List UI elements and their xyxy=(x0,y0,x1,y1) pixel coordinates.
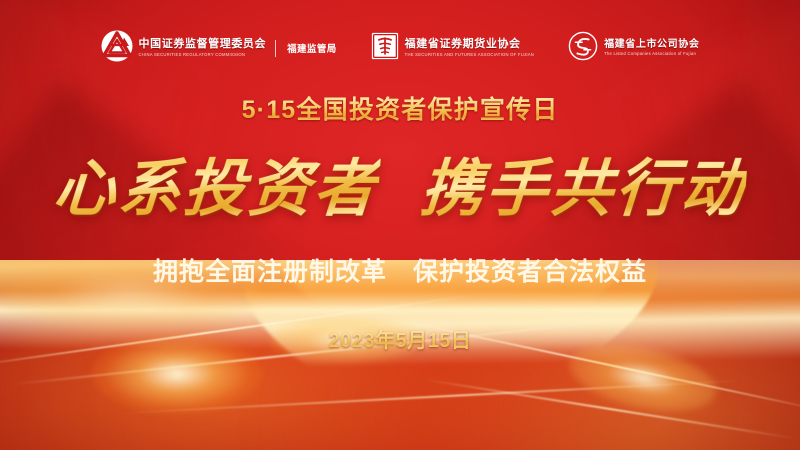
csrc-triangle-emblem-icon xyxy=(101,30,133,67)
logo-fujian-listed-companies-name-en: The Listed Companies Association of Fuji… xyxy=(604,52,699,57)
fujian-listed-companies-circle-icon xyxy=(568,31,598,66)
logo-fujian-securities-futures-name-cn: 福建省证券期货业协会 xyxy=(405,39,534,50)
main-title-part-2: 携手共行动 xyxy=(418,138,749,228)
logo-csrc: 中国证券监督管理委员会 CHINA SECURITIES REGULATORY … xyxy=(101,30,337,66)
campaign-subtitle: 5·15全国投资者保护宣传日 xyxy=(242,90,559,126)
logo-csrc-name-en: CHINA SECURITIES REGULATORY COMMISSION xyxy=(139,52,267,57)
logo-csrc-sub-label: 福建监管局 xyxy=(287,41,337,55)
logo-fujian-securities-futures-name-en: THE SECURITIES AND FUTURES ASSOCIATION O… xyxy=(405,52,534,57)
poster-canvas: 中国证券监督管理委员会 CHINA SECURITIES REGULATORY … xyxy=(0,0,800,450)
fujian-securities-futures-seal-icon xyxy=(371,32,399,65)
logo-fujian-listed-companies-text: 福建省上市公司协会 The Listed Companies Associati… xyxy=(604,40,699,57)
logo-fujian-securities-futures: 福建省证券期货业协会 THE SECURITIES AND FUTURES AS… xyxy=(371,30,534,66)
campaign-date: 2023年5月15日 xyxy=(329,324,472,353)
logo-fujian-listed-companies: 福建省上市公司协会 The Listed Companies Associati… xyxy=(568,30,699,66)
main-title-part-1: 心系投资者 xyxy=(51,138,382,228)
logo-fujian-securities-futures-text: 福建省证券期货业协会 THE SECURITIES AND FUTURES AS… xyxy=(405,39,534,57)
main-title: 心系投资者 携手共行动 xyxy=(54,138,746,228)
logo-csrc-name-cn: 中国证券监督管理委员会 xyxy=(139,39,267,50)
logo-divider xyxy=(275,40,276,57)
poster-content: 中国证券监督管理委员会 CHINA SECURITIES REGULATORY … xyxy=(0,0,800,450)
logo-fujian-listed-companies-name-cn: 福建省上市公司协会 xyxy=(604,40,699,50)
logo-csrc-text: 中国证券监督管理委员会 CHINA SECURITIES REGULATORY … xyxy=(139,39,267,57)
campaign-slogan: 拥抱全面注册制改革 保护投资者合法权益 xyxy=(153,252,647,288)
organizer-logo-bar: 中国证券监督管理委员会 CHINA SECURITIES REGULATORY … xyxy=(101,28,700,68)
